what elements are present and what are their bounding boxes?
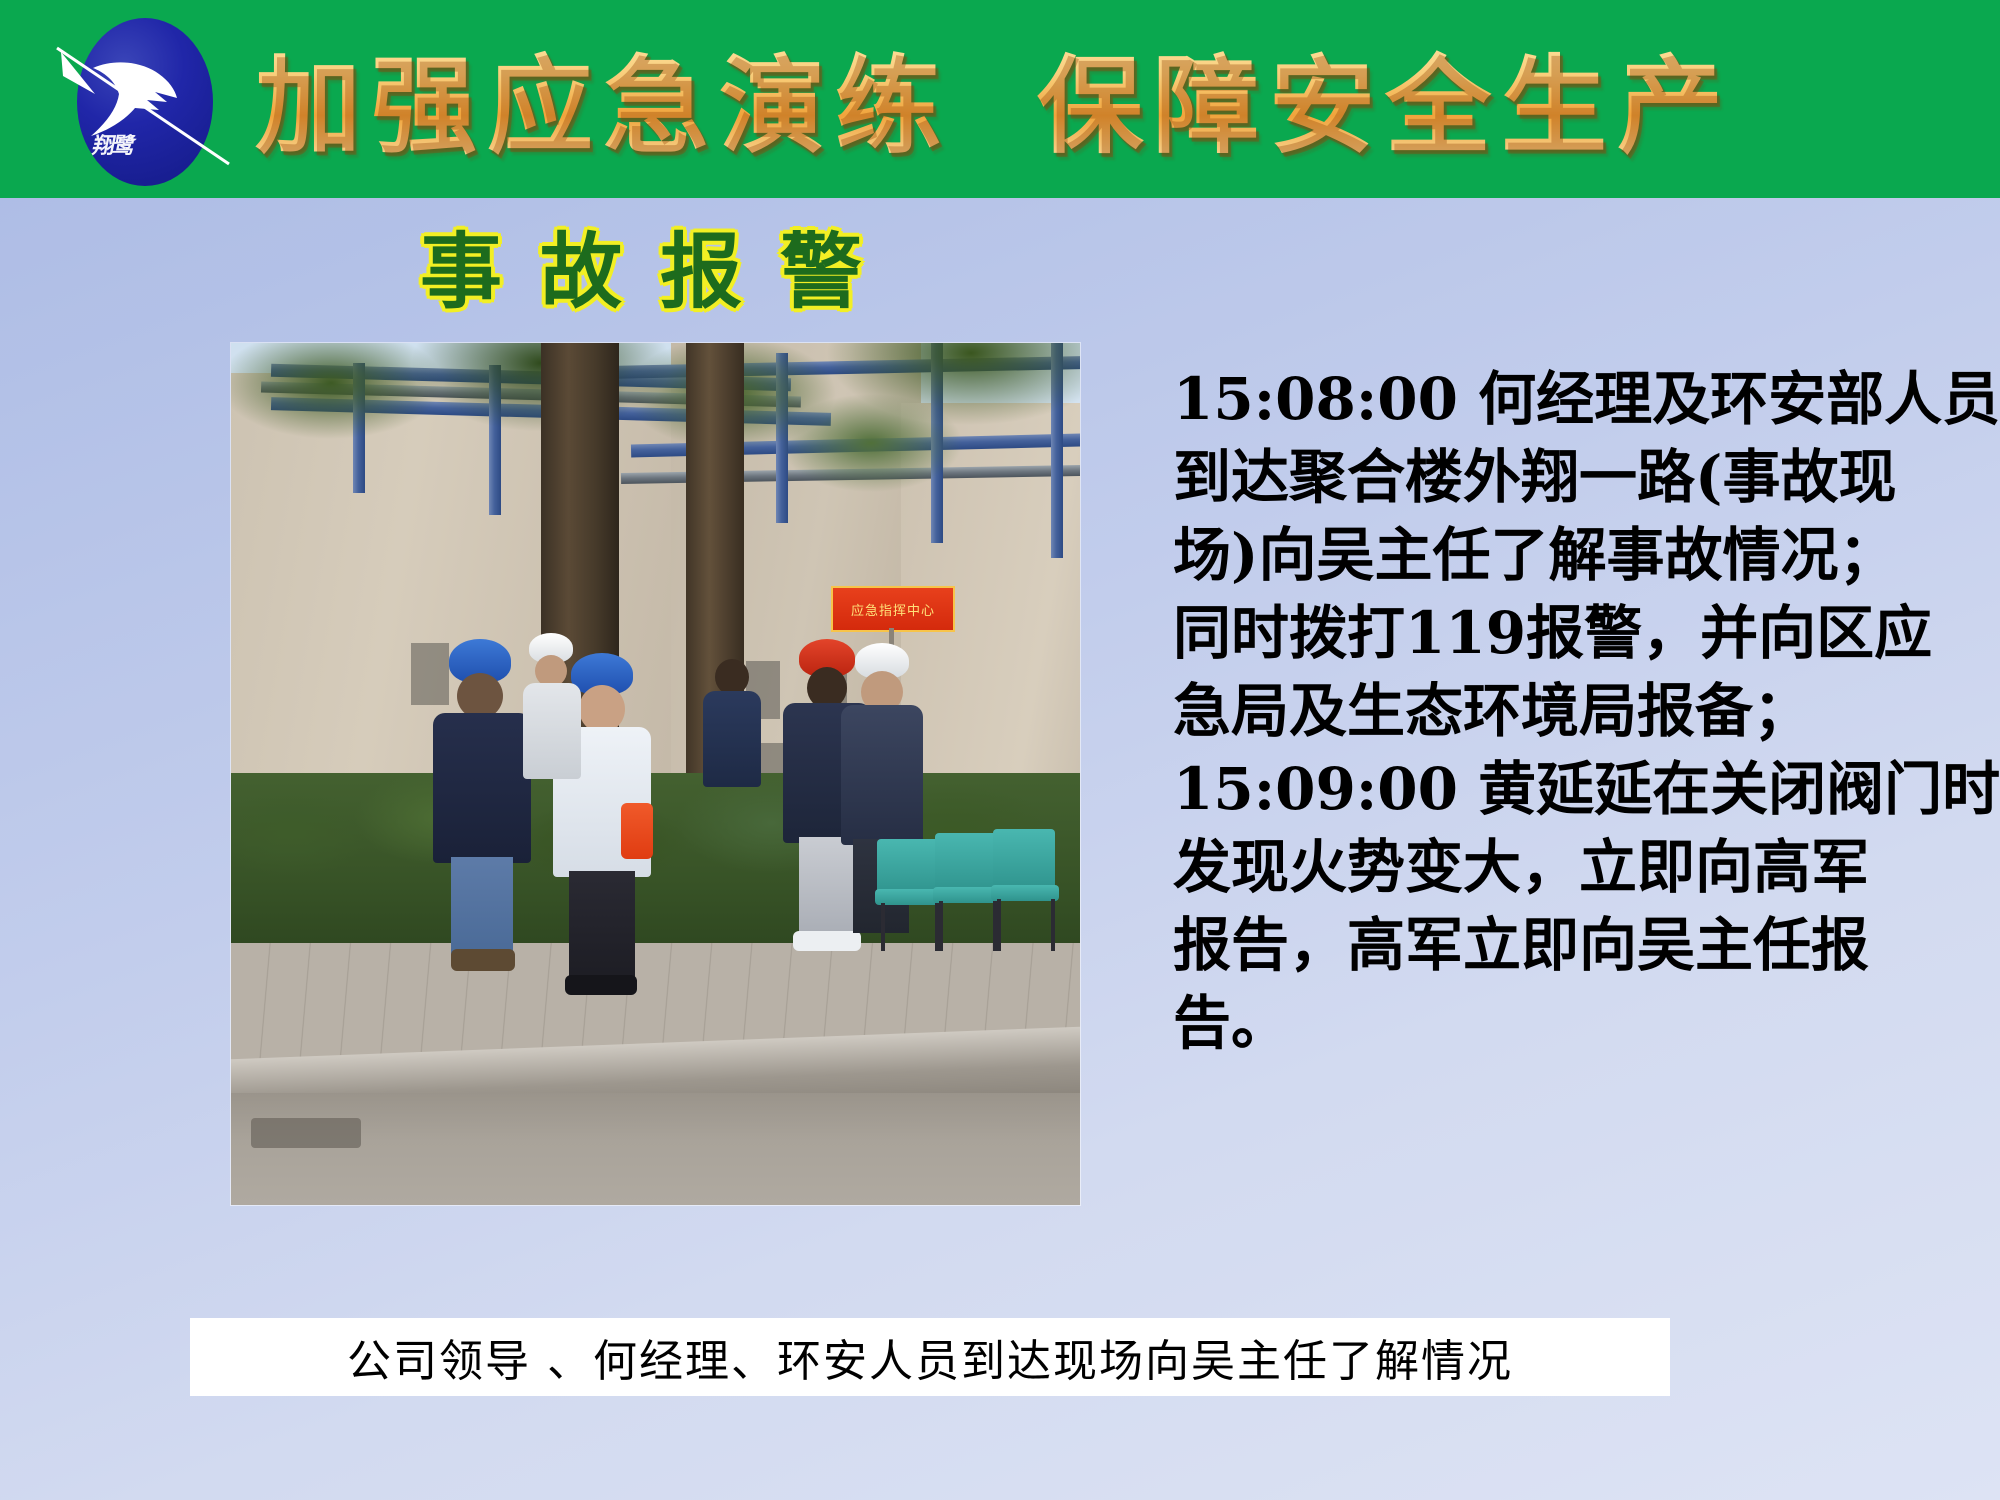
photo-person-navy-far (701, 659, 763, 819)
photo-manhole (251, 1118, 361, 1148)
photo-person-white-helmet-back (517, 633, 587, 803)
log-line: 15:08:00 何经理及环安部人员 (1173, 360, 1973, 438)
photo-tree-canopy (231, 343, 1080, 553)
header-banner: 翔鹭 加强应急演练 保障安全生产 (0, 0, 2000, 198)
emergency-command-sign: 应急指挥中心 (831, 586, 955, 632)
incident-log-text: 15:08:00 何经理及环安部人员 到达聚合楼外翔一路(事故现 场)向吴主任了… (1173, 360, 1973, 1062)
banner-phrase-1: 加强应急演练 (255, 20, 951, 174)
photo-caption-text: 公司领导 、何经理、环安人员到达现场向吴主任了解情况 (347, 1325, 1513, 1389)
company-logo: 翔鹭 (55, 10, 235, 190)
logo-wordmark: 翔鹭 (89, 128, 167, 164)
log-line: 15:09:00 黄延延在关闭阀门时 (1173, 750, 1973, 828)
log-line: 发现火势变大，立即向高军 (1173, 828, 1973, 906)
log-line: 报告，高军立即向吴主任报 (1173, 906, 1973, 984)
incident-photo: 应急指挥中心 (231, 343, 1080, 1205)
log-line: 同时拨打119报警，并向区应 (1173, 594, 1973, 672)
page-title: 事故报警 (330, 205, 990, 324)
banner-title: 加强应急演练 保障安全生产 (255, 22, 1975, 172)
log-line: 告。 (1173, 984, 1973, 1062)
slide-root: 翔鹭 加强应急演练 保障安全生产 事故报警 应急指挥中心 (0, 0, 2000, 1500)
log-line: 到达聚合楼外翔一路(事故现 (1173, 438, 1973, 516)
photo-road (231, 1093, 1080, 1205)
banner-phrase-2: 保障安全生产 (1037, 20, 1733, 174)
log-line: 急局及生态环境局报备； (1173, 672, 1973, 750)
log-line: 场)向吴主任了解事故情况； (1173, 516, 1973, 594)
photo-caption-box: 公司领导 、何经理、环安人员到达现场向吴主任了解情况 (190, 1318, 1670, 1396)
